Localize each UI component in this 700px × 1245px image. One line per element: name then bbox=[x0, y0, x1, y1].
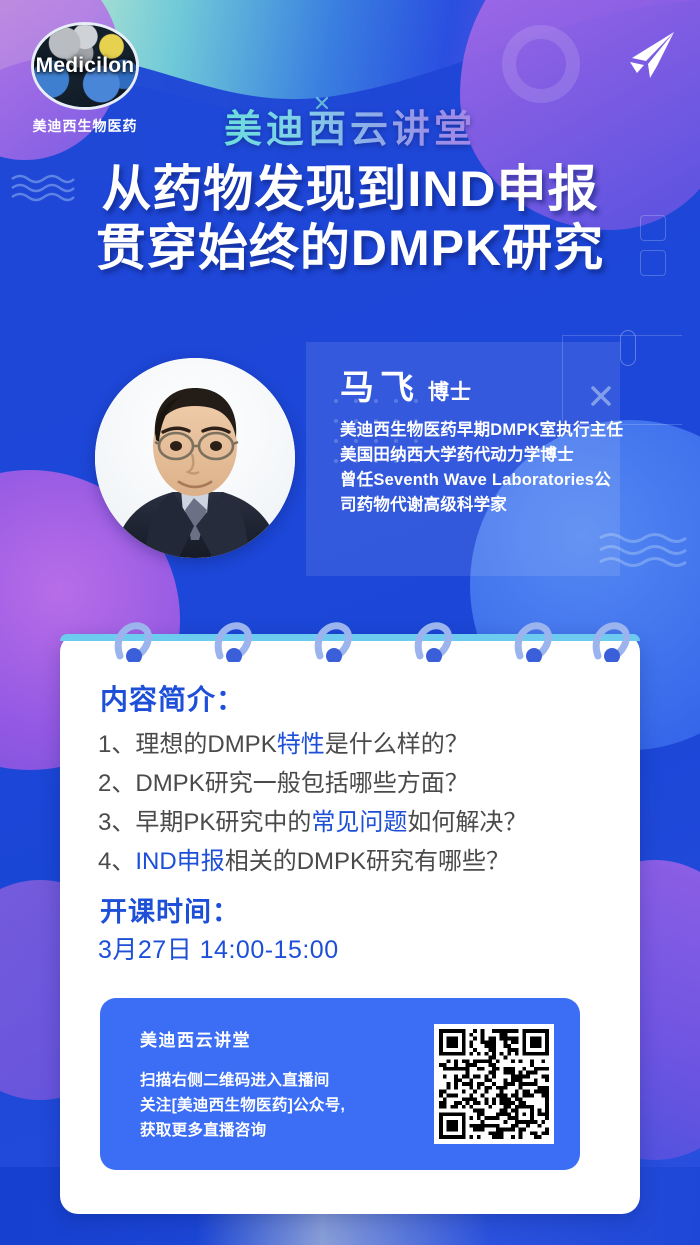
agenda-item-number: 1、 bbox=[98, 731, 135, 758]
agenda-keyword: 特性 bbox=[277, 731, 325, 758]
paper-plane-icon bbox=[616, 28, 678, 82]
agenda-list: 1、理想的DMPK特性是什么样的？2、DMPK研究一般包括哪些方面？3、早期PK… bbox=[98, 726, 618, 882]
speaker-bio-line-2: 美国田纳西大学药代动力学博士 bbox=[340, 443, 623, 468]
logo-oval: Medicilon bbox=[31, 22, 139, 110]
title-line-2: 贯穿始终的DMPK研究 bbox=[0, 219, 700, 278]
brand-logo[interactable]: Medicilon 美迪西生物医药 bbox=[22, 22, 148, 136]
title-line-1: 从药物发现到IND申报 bbox=[0, 160, 700, 219]
schedule-value: 3月27日 14:00-15:00 bbox=[98, 930, 339, 966]
agenda-text: 早期PK研究中的 bbox=[135, 809, 311, 836]
poster-root: Medicilon 美迪西生物医药 美迪西云讲堂 从药物发现到IND申报 贯穿始… bbox=[0, 0, 700, 1245]
speaker-title: 博士 bbox=[428, 381, 472, 404]
speaker-portrait-image bbox=[95, 358, 295, 558]
speaker-name: 马飞 bbox=[340, 369, 420, 407]
qr-panel-brand: 美迪西云讲堂 bbox=[140, 1026, 251, 1051]
agenda-item-number: 2、 bbox=[98, 770, 135, 797]
agenda-text: 如何解决？ bbox=[407, 809, 527, 836]
logo-wordmark: Medicilon bbox=[34, 25, 136, 107]
speaker-bio-line-3: 曾任Seventh Wave Laboratories公 bbox=[340, 468, 623, 493]
agenda-item: 1、理想的DMPK特性是什么样的？ bbox=[98, 726, 618, 765]
logo-caption: 美迪西生物医药 bbox=[22, 116, 148, 136]
decor-pill-outline bbox=[620, 330, 636, 366]
ring-circle-icon bbox=[502, 25, 580, 103]
agenda-text: 是什么样的？ bbox=[325, 731, 469, 758]
page-title: 从药物发现到IND申报 贯穿始终的DMPK研究 bbox=[0, 160, 700, 278]
qr-panel-lines: 扫描右侧二维码进入直播间关注[美迪西生物医药]公众号,获取更多直播咨询 bbox=[140, 1068, 345, 1143]
speaker-avatar bbox=[95, 358, 295, 558]
section-title: 内容简介： bbox=[100, 678, 245, 718]
agenda-item: 2、DMPK研究一般包括哪些方面？ bbox=[98, 765, 618, 804]
qr-code[interactable] bbox=[434, 1024, 554, 1144]
qr-panel-line-1: 扫描右侧二维码进入直播间 bbox=[140, 1068, 345, 1093]
speaker-bio-line-1: 美迪西生物医药早期DMPK室执行主任 bbox=[340, 418, 623, 443]
speaker-bio-line-4: 司药物代谢高级科学家 bbox=[340, 493, 623, 518]
agenda-keyword: IND申报 bbox=[135, 848, 224, 875]
agenda-item: 4、IND申报相关的DMPK研究有哪些？ bbox=[98, 843, 618, 882]
qr-code-image bbox=[439, 1029, 549, 1139]
agenda-text: 理想的DMPK bbox=[135, 731, 276, 758]
agenda-text: 相关的DMPK研究有哪些？ bbox=[225, 848, 510, 875]
agenda-item: 3、早期PK研究中的常见问题如何解决？ bbox=[98, 804, 618, 843]
speaker-name-row: 马飞博士 bbox=[340, 360, 472, 409]
agenda-item-number: 4、 bbox=[98, 848, 135, 875]
agenda-item-number: 3、 bbox=[98, 809, 135, 836]
speaker-bio: 美迪西生物医药早期DMPK室执行主任美国田纳西大学药代动力学博士曾任Sevent… bbox=[340, 418, 623, 518]
agenda-keyword: 常见问题 bbox=[311, 809, 407, 836]
qr-panel: 美迪西云讲堂 扫描右侧二维码进入直播间关注[美迪西生物医药]公众号,获取更多直播… bbox=[100, 998, 580, 1170]
agenda-text: DMPK研究一般包括哪些方面？ bbox=[135, 770, 468, 797]
spiral-binding-pins-icon bbox=[60, 612, 640, 662]
schedule-label: 开课时间： bbox=[100, 890, 240, 929]
qr-panel-line-3: 获取更多直播咨询 bbox=[140, 1118, 345, 1143]
qr-panel-line-2: 关注[美迪西生物医药]公众号, bbox=[140, 1093, 345, 1118]
